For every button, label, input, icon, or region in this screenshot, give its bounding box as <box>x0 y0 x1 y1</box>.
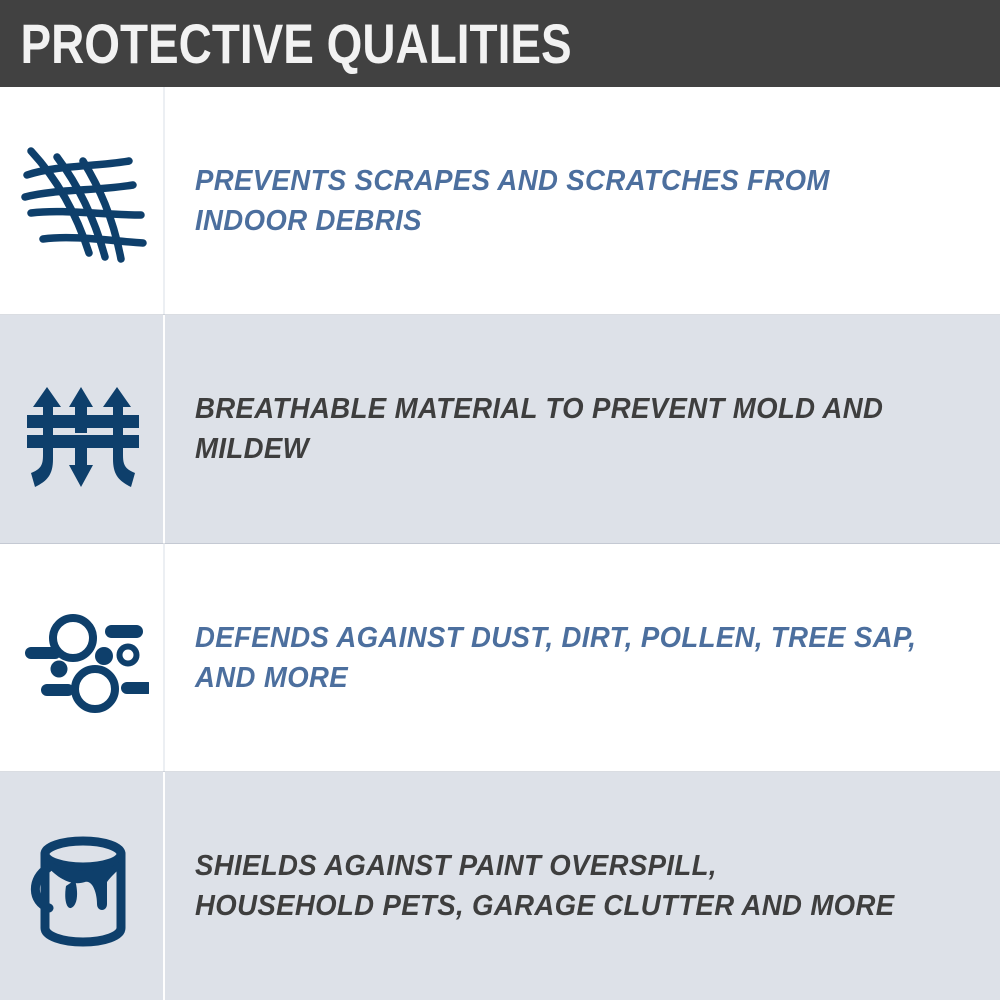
icon-cell <box>0 772 165 1000</box>
feature-row: DEFENDS AGAINST DUST, DIRT, POLLEN, TREE… <box>0 544 1000 772</box>
icon-cell <box>0 315 165 543</box>
feature-text: PREVENTS SCRAPES AND SCRATCHES FROM INDO… <box>195 161 922 241</box>
feature-text: BREATHABLE MATERIAL TO PREVENT MOLD AND … <box>195 389 922 469</box>
breathable-airflow-arrows-icon <box>17 363 149 495</box>
feature-row: SHIELDS AGAINST PAINT OVERSPILL, HOUSEHO… <box>0 772 1000 1000</box>
protective-qualities-infographic: PROTECTIVE QUALITIES <box>0 0 1000 1000</box>
feature-row-list: PREVENTS SCRAPES AND SCRATCHES FROM INDO… <box>0 87 1000 1000</box>
page-title: PROTECTIVE QUALITIES <box>0 16 572 72</box>
paint-can-icon <box>17 820 149 952</box>
text-cell: SHIELDS AGAINST PAINT OVERSPILL, HOUSEHO… <box>165 772 1000 1000</box>
header-bar: PROTECTIVE QUALITIES <box>0 0 1000 87</box>
feature-row: BREATHABLE MATERIAL TO PREVENT MOLD AND … <box>0 315 1000 543</box>
text-cell: PREVENTS SCRAPES AND SCRATCHES FROM INDO… <box>165 87 1000 315</box>
feature-text: DEFENDS AGAINST DUST, DIRT, POLLEN, TREE… <box>195 618 922 698</box>
dust-particles-icon <box>17 592 149 724</box>
icon-cell <box>0 544 165 772</box>
woven-mesh-icon <box>17 135 149 267</box>
icon-cell <box>0 87 165 315</box>
feature-text: SHIELDS AGAINST PAINT OVERSPILL, HOUSEHO… <box>195 846 895 926</box>
text-cell: BREATHABLE MATERIAL TO PREVENT MOLD AND … <box>165 315 1000 543</box>
feature-row: PREVENTS SCRAPES AND SCRATCHES FROM INDO… <box>0 87 1000 315</box>
text-cell: DEFENDS AGAINST DUST, DIRT, POLLEN, TREE… <box>165 544 1000 772</box>
